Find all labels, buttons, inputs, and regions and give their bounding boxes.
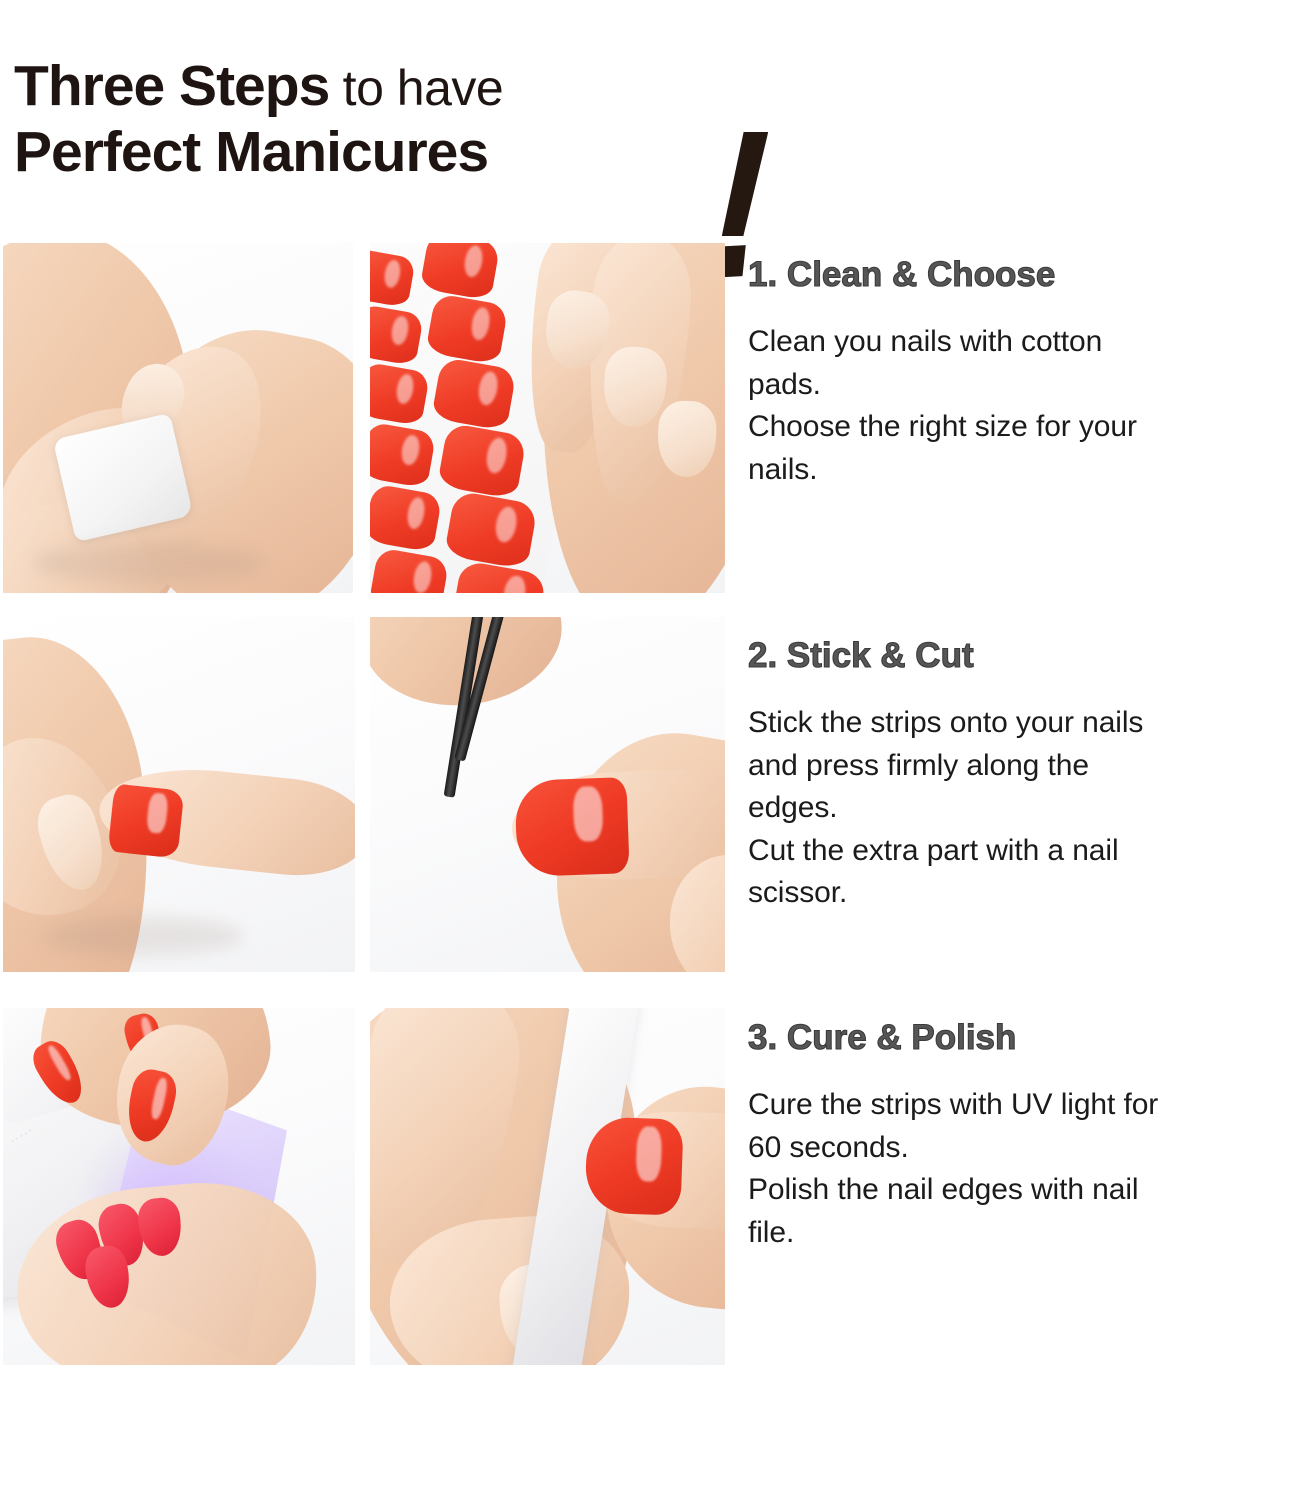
applied-red-strip: [108, 784, 185, 859]
title-line-1: Three Steps to have: [14, 58, 503, 115]
photo-red-nail-strip-sheet-with-hand: [370, 243, 725, 593]
trimmed-red-nail: [514, 777, 629, 877]
infographic-page: Three Steps to have Perfect Manicures: [0, 0, 1300, 1500]
step-3-heading: 3. Cure & Polish: [748, 1018, 1294, 1058]
step-2-heading: 2. Stick & Cut: [748, 636, 1294, 676]
step-3-line-4: file.: [748, 1212, 1294, 1255]
photo-curing-nails-under-uv-lamp: ·····: [3, 1008, 355, 1365]
step-2-body: Stick the strips onto your nails and pre…: [748, 702, 1294, 915]
photo-filing-nail-edge-with-nail-file: [370, 1008, 725, 1365]
step-2-block: 2. Stick & Cut Stick the strips onto you…: [748, 636, 1294, 915]
step-3-line-1: Cure the strips with UV light for: [748, 1084, 1294, 1127]
step-1-line-4: nails.: [748, 449, 1294, 492]
photo-shadow: [33, 543, 263, 583]
step-1-line-3: Choose the right size for your: [748, 406, 1294, 449]
step-3-block: 3. Cure & Polish Cure the strips with UV…: [748, 1018, 1294, 1254]
exclamation-stem: [722, 132, 768, 236]
step-1-heading: 1. Clean & Choose: [748, 255, 1294, 295]
photo-cleaning-nail-with-cotton-pad: [3, 243, 353, 593]
page-title: Three Steps to have Perfect Manicures: [14, 58, 794, 208]
step-1-block: 1. Clean & Choose Clean you nails with c…: [748, 255, 1294, 491]
step-3-line-3: Polish the nail edges with nail: [748, 1169, 1294, 1212]
step-2-line-1: Stick the strips onto your nails: [748, 702, 1294, 745]
step-3-body: Cure the strips with UV light for 60 sec…: [748, 1084, 1294, 1254]
step-3-line-2: 60 seconds.: [748, 1127, 1294, 1170]
photo-cutting-excess-strip-with-scissor: [370, 617, 725, 972]
step-1-body: Clean you nails with cotton pads. Choose…: [748, 321, 1294, 491]
photo-sticking-red-strip-on-nail: [3, 617, 355, 972]
step-2-line-3: edges.: [748, 787, 1294, 830]
step-2-line-5: scissor.: [748, 872, 1294, 915]
step-2-line-4: Cut the extra part with a nail: [748, 830, 1294, 873]
step-1-line-1: Clean you nails with cotton: [748, 321, 1294, 364]
filed-red-nail: [584, 1116, 683, 1215]
title-strong: Three Steps: [14, 54, 329, 118]
step-2-line-2: and press firmly along the: [748, 745, 1294, 788]
title-line-2: Perfect Manicures: [14, 124, 488, 181]
photo-shadow: [43, 917, 243, 955]
title-rest: to have: [329, 60, 503, 116]
step-1-line-2: pads.: [748, 364, 1294, 407]
